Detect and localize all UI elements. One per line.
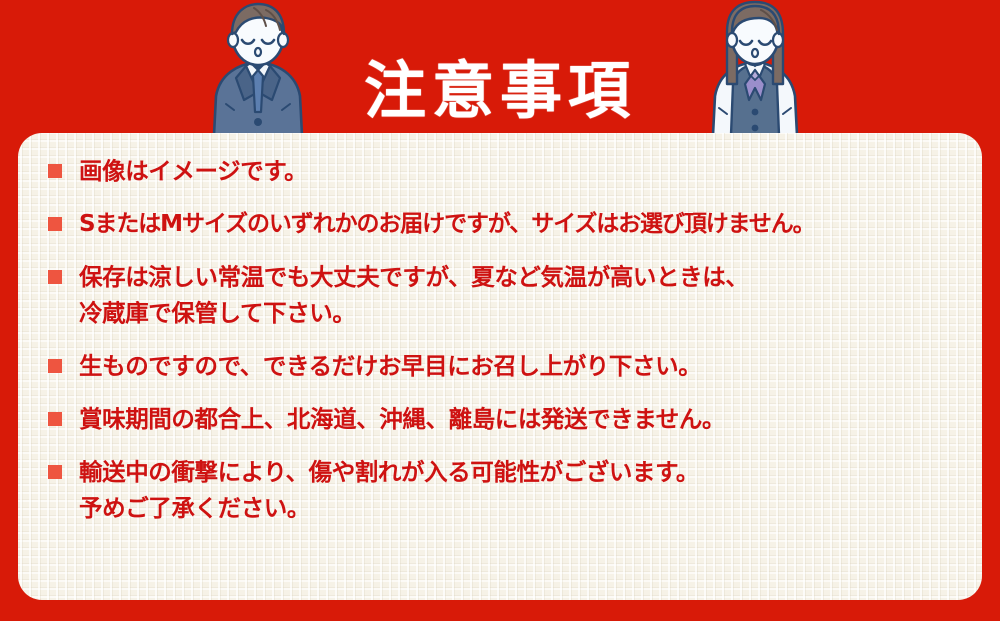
notice-item: 輸送中の衝撃により、傷や割れが入る可能性がございます。予めご了承ください。 xyxy=(48,454,972,526)
notice-text: 画像はイメージです。 xyxy=(79,153,972,189)
notice-text: SまたはMサイズのいずれかのお届けですが、サイズはお選び頂けません。 xyxy=(79,206,972,242)
notice-item: 賞味期間の都合上、北海道、沖縄、離島には発送できません。 xyxy=(48,401,972,437)
notice-panel: 画像はイメージです。SまたはMサイズのいずれかのお届けですが、サイズはお選び頂け… xyxy=(18,133,982,600)
notice-item: 生ものですので、できるだけお早目にお召し上がり下さい。 xyxy=(48,348,972,384)
notice-text: 賞味期間の都合上、北海道、沖縄、離島には発送できません。 xyxy=(79,401,972,437)
notice-line: SまたはMサイズのいずれかのお届けですが、サイズはお選び頂けません。 xyxy=(79,206,972,242)
square-bullet xyxy=(48,465,62,479)
notice-line: 予めご了承ください。 xyxy=(79,490,972,526)
bowing-businesswoman-illustration xyxy=(705,0,805,139)
notice-poster: 注意事項 xyxy=(0,0,1000,621)
square-bullet xyxy=(48,359,62,373)
square-bullet xyxy=(48,412,62,426)
notice-item: 保存は涼しい常温でも大丈夫ですが、夏など気温が高いときは、冷蔵庫で保管して下さい… xyxy=(48,259,972,331)
notice-list: 画像はイメージです。SまたはMサイズのいずれかのお届けですが、サイズはお選び頂け… xyxy=(48,153,972,543)
notice-line: 賞味期間の都合上、北海道、沖縄、離島には発送できません。 xyxy=(79,401,972,437)
poster-header: 注意事項 xyxy=(0,0,1000,135)
notice-item: 画像はイメージです。 xyxy=(48,153,972,189)
page-title: 注意事項 xyxy=(0,60,1000,122)
square-bullet xyxy=(48,270,62,284)
notice-line: 冷蔵庫で保管して下さい。 xyxy=(79,295,972,331)
notice-text: 保存は涼しい常温でも大丈夫ですが、夏など気温が高いときは、冷蔵庫で保管して下さい… xyxy=(79,259,972,331)
square-bullet xyxy=(48,164,62,178)
notice-line: 輸送中の衝撃により、傷や割れが入る可能性がございます。 xyxy=(79,454,972,490)
notice-line: 保存は涼しい常温でも大丈夫ですが、夏など気温が高いときは、 xyxy=(79,259,972,295)
notice-line: 画像はイメージです。 xyxy=(79,153,972,189)
notice-text: 生ものですので、できるだけお早目にお召し上がり下さい。 xyxy=(79,348,972,384)
square-bullet xyxy=(48,217,62,231)
notice-text: 輸送中の衝撃により、傷や割れが入る可能性がございます。予めご了承ください。 xyxy=(79,454,972,526)
notice-line: 生ものですので、できるだけお早目にお召し上がり下さい。 xyxy=(79,348,972,384)
notice-item: SまたはMサイズのいずれかのお届けですが、サイズはお選び頂けません。 xyxy=(48,206,972,242)
